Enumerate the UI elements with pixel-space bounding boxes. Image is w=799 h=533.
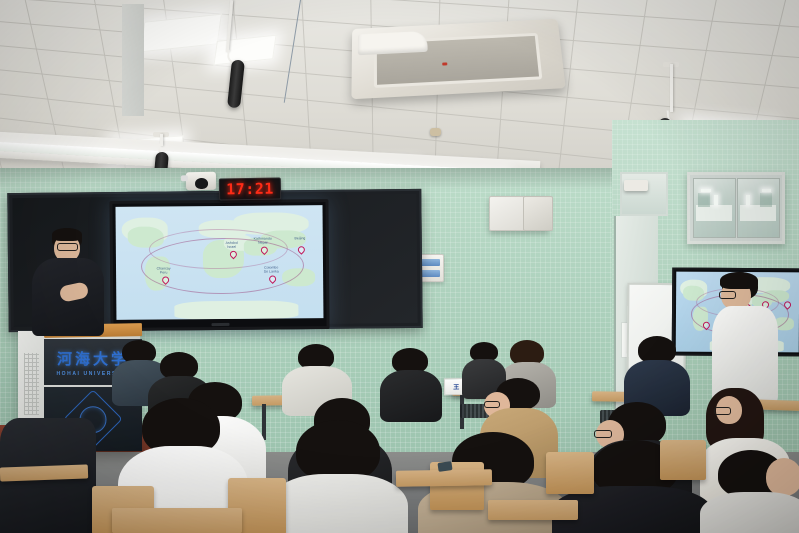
podium-right-panel: [122, 4, 144, 116]
smoke-detector-icon: [430, 128, 441, 136]
observer-hair-top: [720, 272, 758, 289]
student-torso: [700, 492, 799, 533]
student-front-row: [268, 420, 408, 533]
student-desk: [396, 469, 492, 487]
ceiling-air-conditioner: [351, 19, 565, 99]
map-label-beijing: Beijing: [279, 236, 320, 241]
presenter-hair-front: [52, 228, 82, 241]
student-torso: [268, 474, 408, 533]
world-map-slide: ChancayPeruAshdodIsraelKathmanduNepalBei…: [115, 205, 323, 320]
student-back-row: [624, 336, 690, 412]
ac-indicator-led: [442, 62, 447, 65]
student-glasses-icon: [484, 401, 500, 408]
main-lecture-display[interactable]: ChancayPeruAshdodIsraelKathmanduNepalBei…: [109, 199, 329, 331]
student-glasses-icon: [714, 407, 731, 415]
student-chair: [660, 440, 706, 480]
interior-window: [687, 172, 785, 244]
wall-projector-device: [624, 180, 648, 191]
podium-speaker-grille: [24, 353, 39, 415]
map-label-colombo: ColomboSri Lanka: [251, 265, 292, 274]
student-chair: [546, 452, 594, 494]
window-pane-left: [693, 178, 736, 238]
door-transom-window: [620, 172, 668, 216]
student-desk: [112, 508, 242, 533]
ac-vane: [358, 31, 428, 55]
map-landmass: [174, 300, 298, 319]
student-front-row: [700, 444, 799, 533]
student-glasses-icon: [594, 430, 612, 438]
camera-lens-icon: [195, 178, 208, 189]
classroom-scene: ChancayPeruAshdodIsraelKathmanduNepalBei…: [0, 0, 799, 533]
student-head: [766, 458, 799, 496]
display-logo: [211, 323, 229, 326]
standing-observer: [712, 272, 782, 402]
presenter-speaking: [30, 228, 112, 336]
map-label-kathmandu: KathmanduNepal: [242, 236, 283, 245]
student-desk: [488, 500, 578, 520]
wall-top-shadow: [0, 168, 660, 190]
presenter-glasses-icon: [57, 243, 78, 251]
map-label-chancay: ChancayPeru: [143, 266, 184, 275]
smartphone-on-desk: [437, 461, 452, 472]
observer-glasses-icon: [719, 291, 736, 299]
digital-clock: 17:21: [219, 177, 281, 200]
ceiling-ptz-camera: [186, 172, 216, 191]
student-hair: [296, 420, 380, 482]
window-pane-right: [737, 178, 780, 238]
wall-equipment-box-secondary: [523, 196, 553, 231]
camera-mount-arm: [181, 175, 188, 181]
clock-time-text: 17:21: [226, 180, 274, 199]
